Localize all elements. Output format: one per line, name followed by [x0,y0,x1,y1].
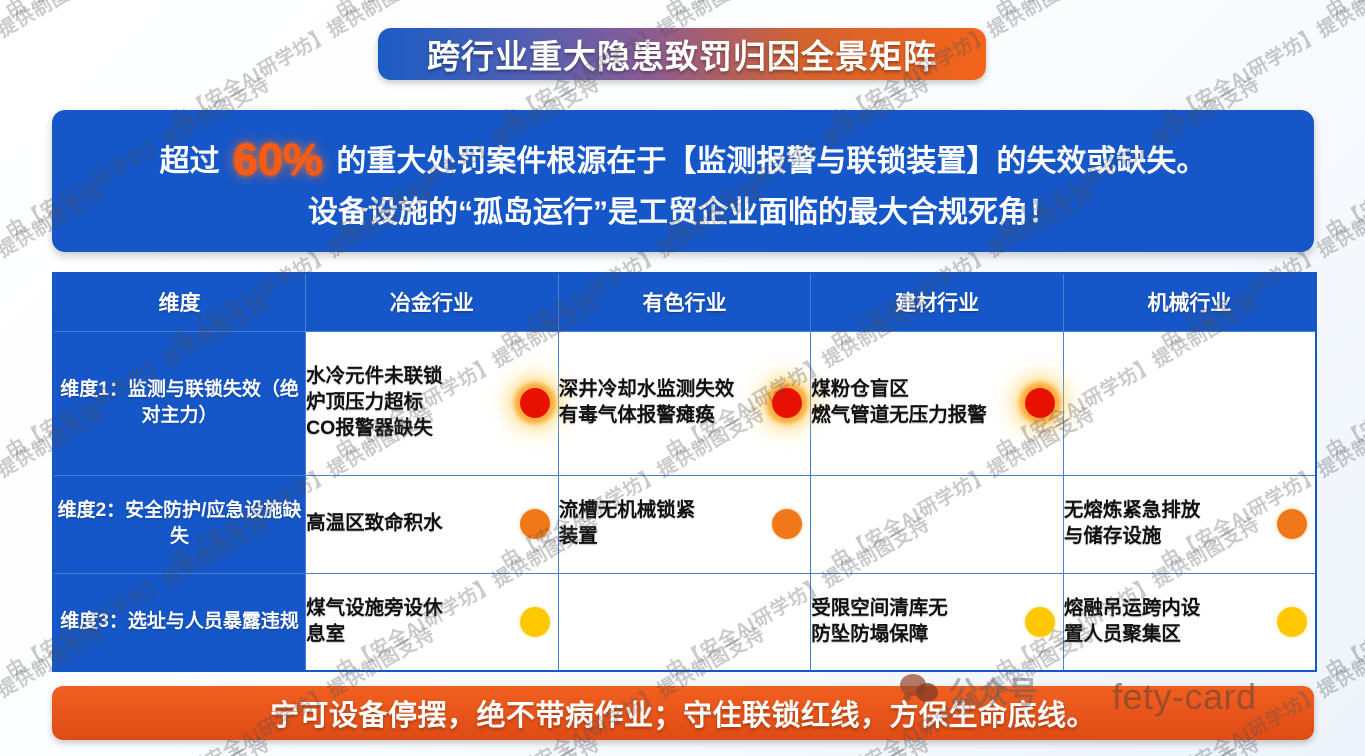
cell-text: 高温区致命积水 [306,511,443,537]
risk-matrix-table: 维度 冶金行业 有色行业 建材行业 机械行业 维度1：监测与联锁失效（绝对主力）… [52,272,1317,672]
cell-buildingmaterials-d1: 煤粉仓盲区 燃气管道无压力报警 [811,331,1064,475]
table-header-row: 维度 冶金行业 有色行业 建材行业 机械行业 [53,273,1316,331]
severity-dot-yellow [1277,607,1307,637]
watermark-text: 由【安全AI研学坊】提供制图支持 [1320,69,1365,243]
cell-metallurgy-d3: 煤气设施旁设休 息室 [306,573,559,671]
severity-dot-none [1277,388,1307,418]
watermark-text: 由【安全AI研学坊】提供制图支持 [1320,0,1365,23]
table-row: 维度2：安全防护/应急设施缺失高温区致命积水流槽无机械锁紧 装置无熔炼紧急排放 … [53,475,1316,573]
cell-text: 熔融吊运跨内设 置人员聚集区 [1064,596,1201,647]
column-header-machinery: 机械行业 [1063,273,1316,331]
footer-slogan: 宁可设备停摆，绝不带病作业；守住联锁红线，方保生命底线。 [270,692,1096,734]
cell-machinery-d2: 无熔炼紧急排放 与储存设施 [1063,475,1316,573]
cell-nonferrous-d1: 深井冷却水监测失效 有毒气体报警瘫痪 [558,331,811,475]
severity-dot-orange [520,509,550,539]
footer-slogan-banner: 宁可设备停摆，绝不带病作业；守住联锁红线，方保生命底线。 [52,686,1314,740]
key-finding-percent: 60% [228,134,328,185]
dimension-label-1: 维度1：监测与联锁失效（绝对主力） [53,331,306,475]
key-finding-line-1: 超过 60% 的重大处罚案件根源在于【监测报警与联锁装置】的失效或缺失。 [160,128,1207,192]
page-title: 跨行业重大隐患致罚归因全景矩阵 [427,30,937,78]
cell-machinery-d3: 熔融吊运跨内设 置人员聚集区 [1063,573,1316,671]
page-title-banner: 跨行业重大隐患致罚归因全景矩阵 [378,28,986,80]
watermark-text: 由【安全AI研学坊】提供制图支持 [1320,729,1365,756]
cell-nonferrous-d3 [558,573,811,671]
watermark-text: 由【安全AI研学坊】提供制图支持 [660,0,934,23]
table-header: 维度 冶金行业 有色行业 建材行业 机械行业 [53,273,1316,331]
cell-text: 煤粉仓盲区 燃气管道无压力报警 [811,377,987,428]
severity-dot-red [520,388,550,418]
cell-metallurgy-d1: 水冷元件未联锁 炉顶压力超标 CO报警器缺失 [306,331,559,475]
watermark-text: 由【安全AI研学坊】提供制图支持 [1320,509,1365,683]
severity-dot-none [772,607,802,637]
cell-text: 煤气设施旁设休 息室 [306,596,443,647]
column-header-metallurgy: 冶金行业 [306,273,559,331]
severity-dot-yellow [520,607,550,637]
cell-machinery-d1 [1063,331,1316,475]
severity-dot-yellow [1025,607,1055,637]
watermark-text: 由【安全AI研学坊】提供制图支持 [1320,289,1365,463]
watermark-text: 由【安全AI研学坊】提供制图支持 [330,0,604,23]
watermark-text: 由【安全AI研学坊】提供制图支持 [990,0,1264,23]
cell-metallurgy-d2: 高温区致命积水 [306,475,559,573]
cell-buildingmaterials-d3: 受限空间清库无 防坠防塌保障 [811,573,1064,671]
key-finding-line-2: 设备设施的“孤岛运行”是工贸企业面临的最大合规死角！ [308,192,1058,235]
cell-text: 水冷元件未联锁 炉顶压力超标 CO报警器缺失 [306,364,443,441]
key-finding-banner: 超过 60% 的重大处罚案件根源在于【监测报警与联锁装置】的失效或缺失。 设备设… [52,110,1314,252]
cell-buildingmaterials-d2 [811,475,1064,573]
severity-dot-none [1025,509,1055,539]
column-header-nonferrous: 有色行业 [558,273,811,331]
cell-text: 受限空间清库无 防坠防塌保障 [811,596,948,647]
column-header-buildingmaterials: 建材行业 [811,273,1064,331]
column-header-dimension: 维度 [53,273,306,331]
dimension-label-3: 维度3：选址与人员暴露违规 [53,573,306,671]
cell-text: 无熔炼紧急排放 与储存设施 [1064,498,1201,549]
severity-dot-orange [1277,509,1307,539]
dimension-label-2: 维度2：安全防护/应急设施缺失 [53,475,306,573]
table-body: 维度1：监测与联锁失效（绝对主力）水冷元件未联锁 炉顶压力超标 CO报警器缺失深… [53,331,1316,671]
cell-text: 流槽无机械锁紧 装置 [559,498,696,549]
key-finding-prefix: 超过 [160,145,228,178]
severity-dot-red [1025,388,1055,418]
watermark-text: 由【安全AI研学坊】提供制图支持 [0,0,274,23]
cell-text: 深井冷却水监测失效 有毒气体报警瘫痪 [559,377,735,428]
table-row: 维度1：监测与联锁失效（绝对主力）水冷元件未联锁 炉顶压力超标 CO报警器缺失深… [53,331,1316,475]
cell-nonferrous-d2: 流槽无机械锁紧 装置 [558,475,811,573]
severity-dot-red [772,388,802,418]
table-row: 维度3：选址与人员暴露违规煤气设施旁设休 息室受限空间清库无 防坠防塌保障熔融吊… [53,573,1316,671]
severity-dot-orange [772,509,802,539]
key-finding-suffix: 的重大处罚案件根源在于【监测报警与联锁装置】的失效或缺失。 [328,145,1206,178]
